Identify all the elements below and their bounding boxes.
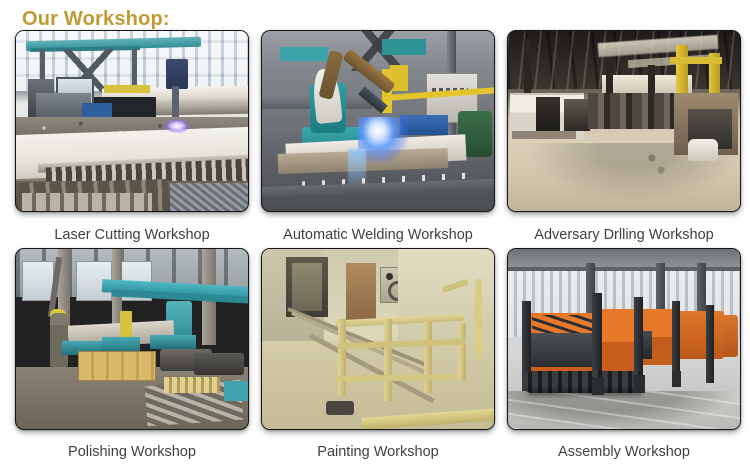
assembly-workshop-card[interactable] xyxy=(507,248,741,430)
painting-workshop-card[interactable] xyxy=(261,248,495,430)
control-knob xyxy=(386,273,393,280)
outrigger-foot-3 xyxy=(672,371,681,387)
gallery-cell-adversary-drilling[interactable]: Adversary Drlling Workshop xyxy=(506,30,742,244)
automatic-welding-workshop-card[interactable] xyxy=(261,30,495,212)
outrigger-foot-1 xyxy=(592,377,604,395)
workshop-caption: Assembly Workshop xyxy=(506,443,742,461)
painting-workshop-photo xyxy=(262,249,494,429)
warehouse-column-1 xyxy=(524,39,531,101)
wooden-crate xyxy=(78,351,156,381)
teal-stand-3 xyxy=(150,335,196,349)
gallery-cell-painting[interactable]: Painting Workshop xyxy=(260,248,496,461)
paint-frame-post-2 xyxy=(384,319,392,401)
workshop-gallery-grid: Laser Cutting Workshop xyxy=(0,30,750,461)
yellow-beam xyxy=(670,57,722,64)
second-worker xyxy=(120,311,132,337)
outrigger-foot-2 xyxy=(634,375,645,393)
booth-doorway-interior xyxy=(292,263,322,311)
teal-equipment-top-right xyxy=(382,39,426,55)
paint-frame-post-4 xyxy=(458,323,466,381)
laser-spark xyxy=(164,119,190,133)
conveyor-cart xyxy=(326,401,354,415)
assembly-floor xyxy=(508,391,740,429)
polishing-workshop-card[interactable] xyxy=(15,248,249,430)
laser-cutting-head xyxy=(166,59,188,89)
workshop-gallery-page: Our Workshop: xyxy=(0,0,750,468)
scrap-metal-pile xyxy=(170,183,248,211)
assembly-workshop-photo xyxy=(508,249,740,429)
dark-crate-2 xyxy=(564,99,590,131)
white-sack xyxy=(688,139,718,161)
laser-cutting-workshop-photo xyxy=(16,31,248,211)
page-title: Our Workshop: xyxy=(22,6,170,32)
teal-box-foreground xyxy=(224,381,248,401)
machine-row xyxy=(588,93,674,129)
workshop-caption: Polishing Workshop xyxy=(14,443,250,461)
gallery-row-1: Laser Cutting Workshop xyxy=(0,30,750,244)
teal-equipment-top-left xyxy=(280,47,328,61)
dark-casting-2 xyxy=(194,353,244,375)
laser-cutting-workshop-card[interactable] xyxy=(15,30,249,212)
adversary-drilling-workshop-card[interactable] xyxy=(507,30,741,212)
workshop-caption: Laser Cutting Workshop xyxy=(14,226,250,244)
gallery-cell-automatic-welding[interactable]: Automatic Welding Workshop xyxy=(260,30,496,244)
gallery-row-2: Polishing Workshop xyxy=(0,248,750,461)
workshop-caption: Painting Workshop xyxy=(260,443,496,461)
paint-frame-post-1 xyxy=(338,319,346,395)
dark-crate-1 xyxy=(536,97,560,131)
paint-frame-post-3 xyxy=(424,321,432,393)
drill-rig-1-chassis xyxy=(530,333,596,367)
gallery-cell-laser-cutting[interactable]: Laser Cutting Workshop xyxy=(14,30,250,244)
polishing-workshop-photo xyxy=(16,249,248,429)
drill-mast-5 xyxy=(706,305,714,383)
workshop-caption: Automatic Welding Workshop xyxy=(260,226,496,244)
hall-window-1 xyxy=(22,261,54,301)
gallery-cell-assembly[interactable]: Assembly Workshop xyxy=(506,248,742,461)
automatic-welding-workshop-photo xyxy=(262,31,494,211)
workshop-caption: Adversary Drlling Workshop xyxy=(506,226,742,244)
yellow-machine-bar xyxy=(104,85,150,93)
worker-figure xyxy=(50,313,68,367)
crawler-track-shadow xyxy=(528,389,642,396)
steel-beam-stack-front xyxy=(22,193,152,211)
bolt-bundle xyxy=(164,377,220,393)
right-stand-post xyxy=(475,279,482,359)
brown-panel xyxy=(346,263,376,321)
pallet xyxy=(512,131,576,139)
adversary-drilling-workshop-photo xyxy=(508,31,740,211)
gallery-cell-polishing[interactable]: Polishing Workshop xyxy=(14,248,250,461)
